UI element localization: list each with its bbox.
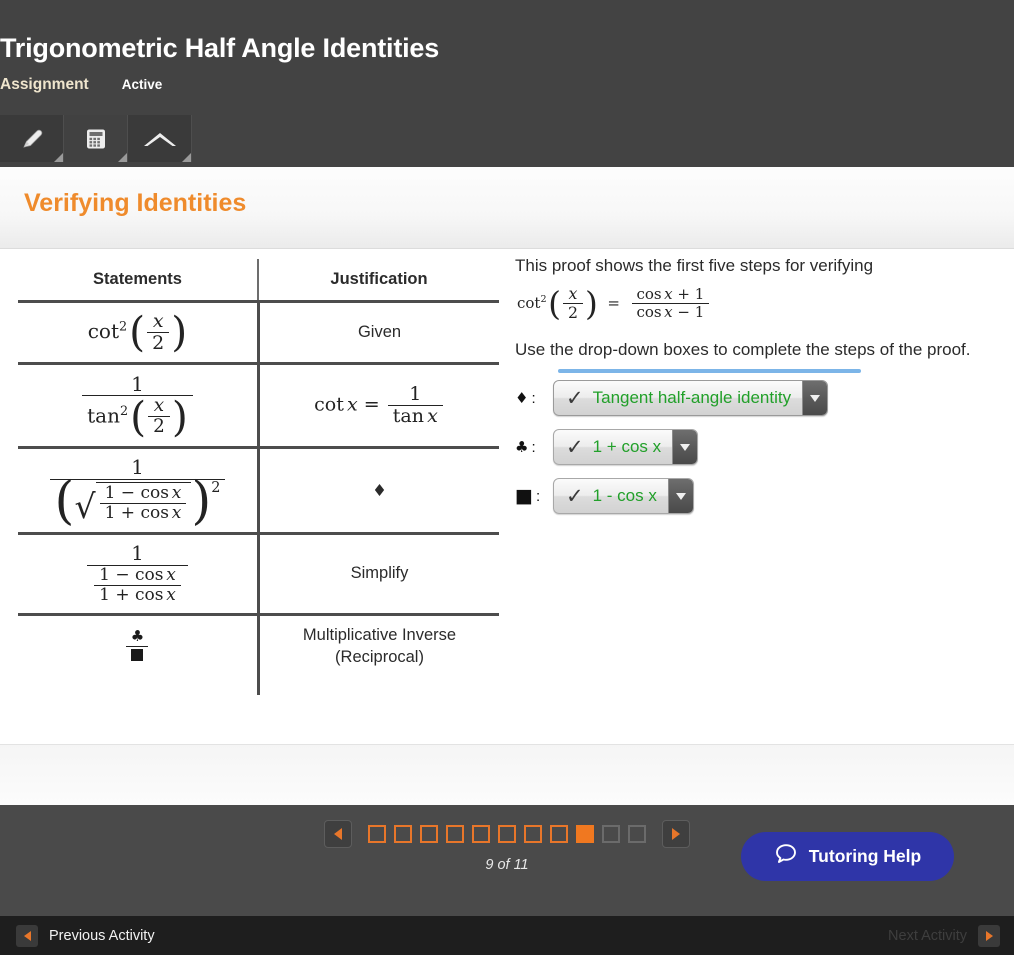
- chevron-down-icon: [810, 395, 820, 402]
- statement-cell: 11 − cos x1 + cos x: [18, 535, 257, 613]
- page-dot-6[interactable]: [498, 825, 516, 843]
- collapse-tool-button[interactable]: [128, 115, 192, 162]
- main-content: Statements Justification cot2 (x2) Given…: [0, 249, 1014, 744]
- dropdown-diamond-arrow[interactable]: [802, 381, 827, 415]
- math-cot2-half-x: cot2 (x2): [88, 312, 188, 353]
- activity-nav-bar: Previous Activity Next Activity: [0, 916, 1014, 955]
- page-dot-2[interactable]: [394, 825, 412, 843]
- diamond-marker: ♦:: [515, 389, 553, 407]
- dropdown-row-square: ■: ✓ 1 - cos x: [515, 478, 995, 514]
- arrow-right-icon: [978, 925, 1000, 947]
- square-marker: ■:: [515, 487, 553, 506]
- tool-bar: [0, 115, 192, 162]
- dropdown-row-club: ♣: ✓ 1 + cos x: [515, 429, 995, 465]
- square-icon: [131, 649, 143, 661]
- check-icon: ✓: [566, 486, 584, 507]
- justification-cell: cot x = 1tan x: [257, 365, 499, 446]
- app-header: Trigonometric Half Angle Identities Assi…: [0, 0, 1014, 167]
- calculator-tool-button[interactable]: [64, 115, 128, 162]
- table-divider-tail: [257, 677, 260, 695]
- calculator-icon: [83, 126, 109, 152]
- activity-status-label: Active: [122, 77, 163, 92]
- justification-cell: Given: [257, 303, 499, 362]
- next-activity-label: Next Activity: [888, 928, 967, 944]
- math-cot-identity: cot x = 1tan x: [314, 385, 445, 426]
- dropdown-club-value: 1 + cos x: [593, 437, 662, 457]
- table-header-statements: Statements: [18, 259, 257, 300]
- table-row: ♣ Multiplicative Inverse (Reciprocal): [18, 613, 499, 678]
- arrow-left-icon: [16, 925, 38, 947]
- page-dot-8[interactable]: [550, 825, 568, 843]
- statement-cell: 1tan2 (x2): [18, 365, 257, 446]
- page-dot-7[interactable]: [524, 825, 542, 843]
- justification-multiplicative-inverse: Multiplicative Inverse (Reciprocal): [264, 625, 495, 669]
- previous-activity-button[interactable]: Previous Activity: [16, 916, 155, 955]
- club-icon: ♣: [131, 627, 144, 645]
- section-title: Verifying Identities: [24, 189, 246, 218]
- justification-cell: Multiplicative Inverse (Reciprocal): [257, 616, 499, 678]
- highlighter-icon: [18, 125, 46, 153]
- table-header-row: Statements Justification: [18, 259, 499, 300]
- focus-indicator-bar: [558, 369, 861, 373]
- math-one-over-sqrt-squared: 1 (√1 − cos x1 + cos x)2: [48, 458, 228, 524]
- math-one-over-ratio: 11 − cos x1 + cos x: [85, 544, 190, 604]
- dropdown-square[interactable]: ✓ 1 - cos x: [553, 478, 694, 514]
- target-identity-formula: cot2 (x2) = cos x + 1cos x − 1: [517, 286, 995, 321]
- dropdown-square-label: ✓ 1 - cos x: [554, 479, 668, 513]
- page-dot-11[interactable]: [628, 825, 646, 843]
- activity-type-label: Assignment: [0, 76, 89, 94]
- dropdown-list: ♦: ✓ Tangent half-angle identity ♣:: [515, 380, 995, 514]
- next-activity-button[interactable]: Next Activity: [888, 916, 1000, 955]
- table-row: 11 − cos x1 + cos x Simplify: [18, 532, 499, 613]
- check-icon: ✓: [566, 388, 584, 409]
- page-dot-4[interactable]: [446, 825, 464, 843]
- dropdown-club-label: ✓ 1 + cos x: [554, 430, 672, 464]
- table-header-justification: Justification: [257, 259, 499, 300]
- chevron-down-icon: [676, 493, 686, 500]
- instruction-line-2: Use the drop-down boxes to complete the …: [515, 338, 995, 361]
- statement-cell: 1 (√1 − cos x1 + cos x)2: [18, 449, 257, 533]
- justification-cell: Simplify: [257, 535, 499, 613]
- math-one-over-tan2-half-x: 1tan2 (x2): [80, 374, 195, 437]
- dropdown-club[interactable]: ✓ 1 + cos x: [553, 429, 698, 465]
- page-dot-3[interactable]: [420, 825, 438, 843]
- dropdown-row-diamond: ♦: ✓ Tangent half-angle identity: [515, 380, 995, 416]
- content-footer-strip: [0, 744, 1014, 805]
- table-row: 1tan2 (x2) cot x = 1tan x: [18, 362, 499, 446]
- page-dot-9-current[interactable]: [576, 825, 594, 843]
- dropdown-square-arrow[interactable]: [668, 479, 693, 513]
- diamond-placeholder: ♦: [372, 480, 387, 502]
- page-dot-10[interactable]: [602, 825, 620, 843]
- chevron-up-icon: [141, 126, 179, 152]
- arrow-right-icon: [672, 828, 680, 840]
- tutoring-help-button[interactable]: Tutoring Help: [741, 832, 954, 881]
- section-band: Verifying Identities: [0, 167, 1014, 249]
- page-title: Trigonometric Half Angle Identities: [0, 33, 439, 64]
- pagination-prev-button[interactable]: [324, 820, 352, 848]
- proof-table: Statements Justification cot2 (x2) Given…: [18, 259, 499, 677]
- page-dot-1[interactable]: [368, 825, 386, 843]
- highlighter-tool-button[interactable]: [0, 115, 64, 162]
- table-row: 1 (√1 − cos x1 + cos x)2 ♦: [18, 446, 499, 533]
- instruction-line-1: This proof shows the first five steps fo…: [515, 254, 995, 277]
- dropdown-club-arrow[interactable]: [672, 430, 697, 464]
- previous-activity-label: Previous Activity: [49, 928, 155, 944]
- statement-cell: ♣: [18, 616, 257, 678]
- table-row: cot2 (x2) Given: [18, 300, 499, 362]
- activity-meta: Assignment Active: [0, 76, 162, 94]
- chat-bubble-icon: [774, 842, 798, 871]
- justification-cell: ♦: [257, 449, 499, 533]
- statement-cell: cot2 (x2): [18, 303, 257, 362]
- arrow-left-icon: [334, 828, 342, 840]
- chevron-down-icon: [680, 444, 690, 451]
- dropdown-square-value: 1 - cos x: [593, 486, 657, 506]
- pagination-controls: [324, 820, 690, 848]
- instruction-panel: This proof shows the first five steps fo…: [515, 254, 995, 527]
- page-dot-5[interactable]: [472, 825, 490, 843]
- dropdown-diamond-value: Tangent half-angle identity: [593, 388, 791, 408]
- check-icon: ✓: [566, 437, 584, 458]
- club-marker: ♣:: [515, 438, 553, 456]
- pagination-next-button[interactable]: [662, 820, 690, 848]
- dropdown-diamond-label: ✓ Tangent half-angle identity: [554, 381, 802, 415]
- math-club-over-square: ♣: [124, 628, 151, 665]
- tutoring-help-label: Tutoring Help: [809, 846, 921, 867]
- dropdown-diamond[interactable]: ✓ Tangent half-angle identity: [553, 380, 828, 416]
